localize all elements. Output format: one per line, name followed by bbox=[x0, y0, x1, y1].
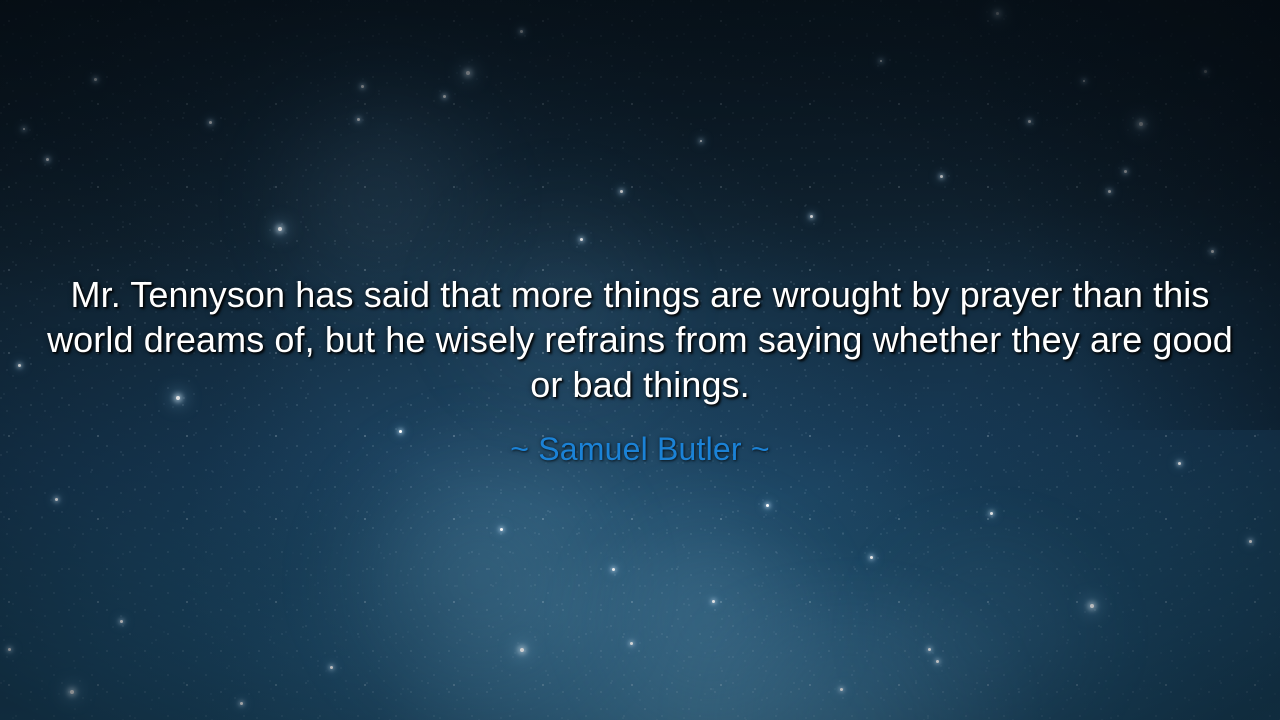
quote-text: Mr. Tennyson has said that more things a… bbox=[0, 272, 1280, 407]
quote-attribution: ~ Samuel Butler ~ bbox=[0, 407, 1280, 468]
wallpaper-scene: Mr. Tennyson has said that more things a… bbox=[0, 0, 1280, 720]
quote-block: Mr. Tennyson has said that more things a… bbox=[0, 272, 1280, 468]
